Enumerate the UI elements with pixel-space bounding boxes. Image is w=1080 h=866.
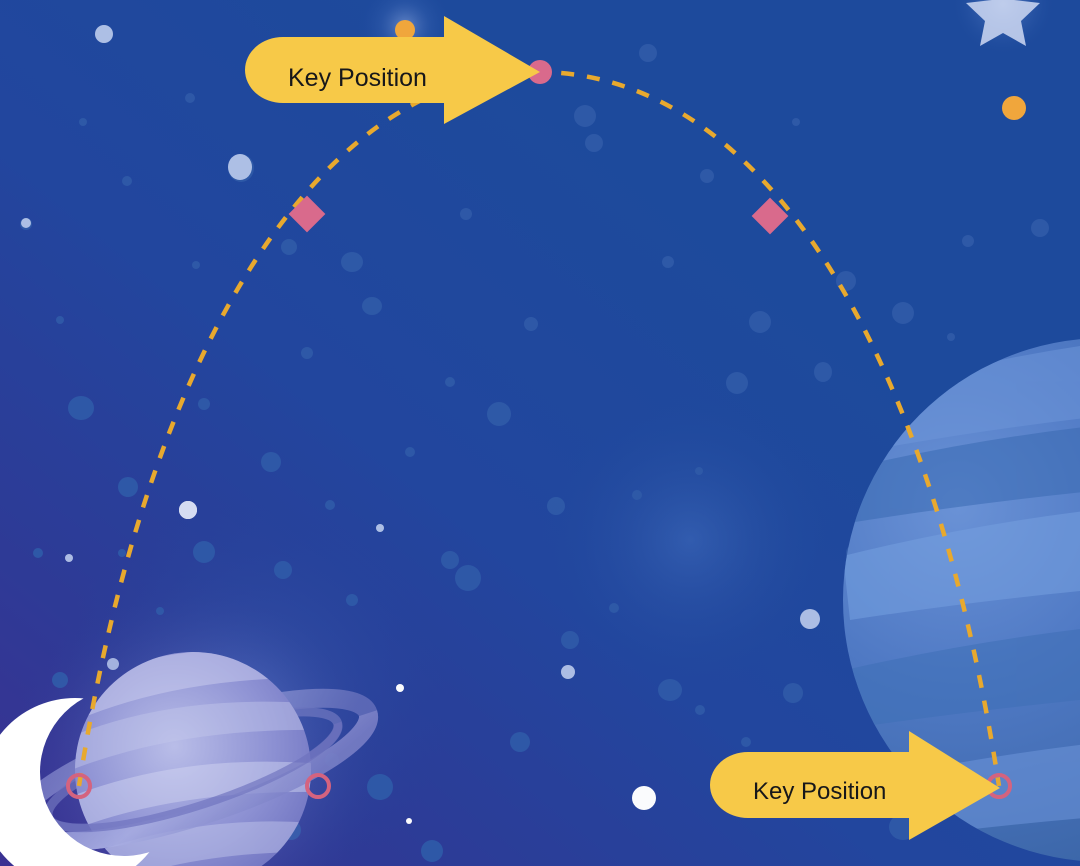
scene-svg-root: Key Position Key Position [0, 0, 1080, 866]
space-scene-canvas: Key Position Key Position [0, 0, 1080, 866]
apex-callout-label: Key Position [288, 64, 427, 92]
orange-dot-right [1002, 96, 1026, 120]
crescent-moon [0, 680, 220, 866]
landing-callout-label: Key Position [753, 778, 886, 805]
pale-dot [179, 501, 197, 519]
nebula-glow [540, 390, 840, 690]
